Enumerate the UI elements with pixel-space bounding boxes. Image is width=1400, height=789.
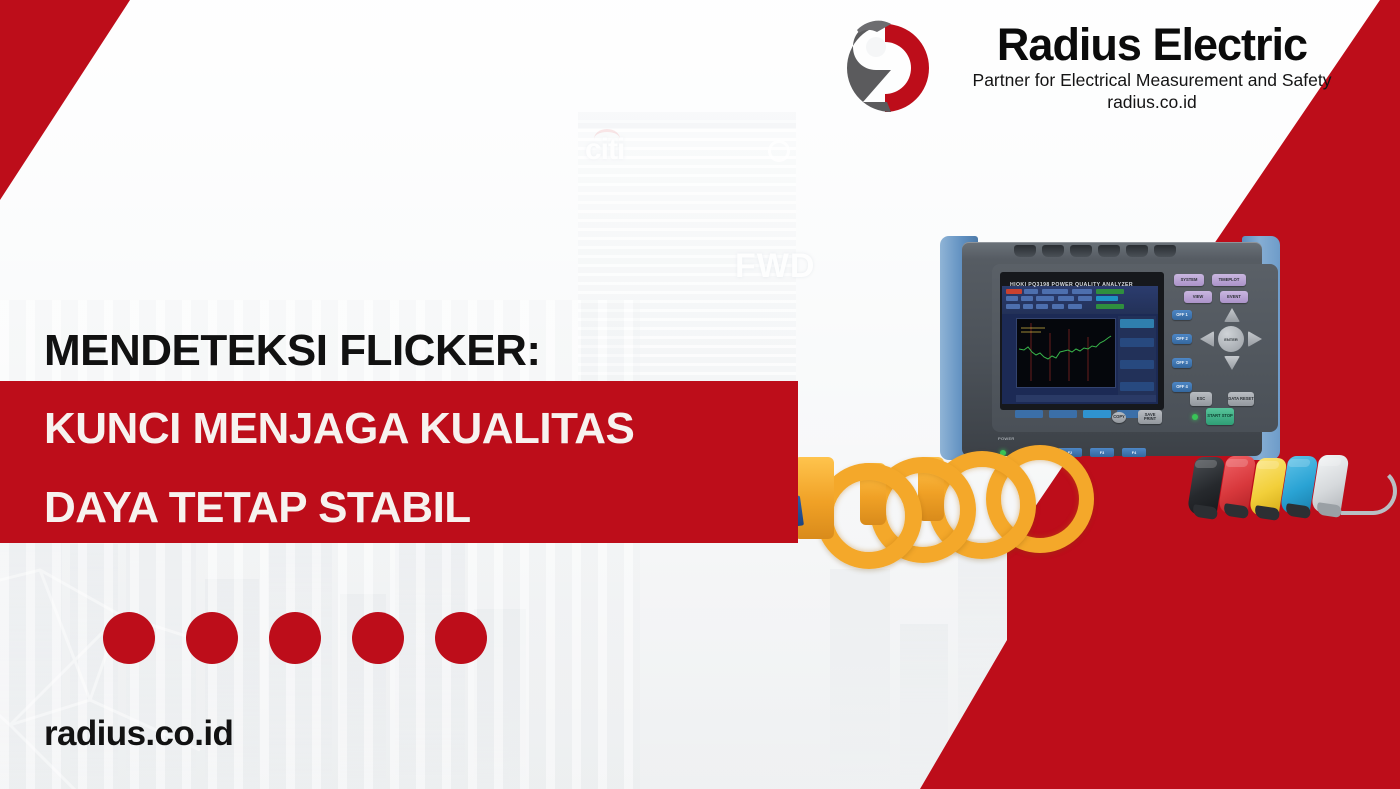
clip-lead-wire xyxy=(1341,467,1397,515)
timeplot-button[interactable]: TIMEPLOT xyxy=(1212,274,1246,286)
decorative-dot-3 xyxy=(269,612,321,664)
off3-button[interactable]: OFF 3 xyxy=(1172,358,1192,368)
decorative-dot-row xyxy=(103,612,487,664)
analyzer-lcd: HIOKI PQ3198 POWER QUALITY ANALYZER xyxy=(1000,272,1164,410)
test-clip-blue xyxy=(1284,456,1314,514)
view-button[interactable]: VIEW xyxy=(1184,291,1212,303)
brand-tagline: Partner for Electrical Measurement and S… xyxy=(951,70,1353,92)
red-triangle-top-left xyxy=(0,0,130,200)
footer-website-url[interactable]: radius.co.id xyxy=(44,714,233,754)
copy-button[interactable]: COPY xyxy=(1112,412,1126,423)
test-clip-yellow xyxy=(1253,458,1283,516)
test-clip-black xyxy=(1191,457,1221,515)
enter-button[interactable]: ENTER xyxy=(1218,326,1244,352)
clamp-sensor-group xyxy=(808,425,1108,585)
brand-logo-block[interactable]: Radius Electric Partner for Electrical M… xyxy=(833,16,1353,131)
lcd-side-menu xyxy=(1118,316,1156,400)
promo-banner: citi FWD xyxy=(0,0,1400,789)
analyzer-keypad: SYSTEM TIMEPLOT VIEW EVENT OFF 1 OFF 2 O… xyxy=(1172,274,1272,424)
test-clip-red xyxy=(1222,456,1252,514)
analyzer-front-face: HIOKI PQ3198 POWER QUALITY ANALYZER xyxy=(992,264,1278,432)
analyzer-input-ports xyxy=(1014,245,1214,257)
test-clip-white xyxy=(1315,455,1345,513)
off2-button[interactable]: OFF 2 xyxy=(1172,334,1192,344)
lcd-content xyxy=(1002,286,1158,404)
lcd-trend-plot xyxy=(1016,318,1116,388)
brand-website-url[interactable]: radius.co.id xyxy=(951,92,1353,114)
event-button[interactable]: EVENT xyxy=(1220,291,1248,303)
headline-line-3: DAYA TETAP STABIL xyxy=(44,483,471,533)
f4-button[interactable]: F4 xyxy=(1122,448,1146,457)
decorative-dot-2 xyxy=(186,612,238,664)
decorative-dot-4 xyxy=(352,612,404,664)
esc-button[interactable]: ESC xyxy=(1190,392,1212,406)
test-clip-group xyxy=(1191,453,1391,533)
lcd-soft-key-row xyxy=(1000,410,1160,419)
dpad-left-button[interactable] xyxy=(1200,331,1214,347)
off4-button[interactable]: OFF 4 xyxy=(1172,382,1192,392)
decorative-dot-5 xyxy=(435,612,487,664)
dpad-down-button[interactable] xyxy=(1224,356,1240,370)
radius-r-circle-logo-icon xyxy=(833,16,941,120)
status-led xyxy=(1192,414,1198,420)
brand-name: Radius Electric xyxy=(951,22,1353,68)
start-stop-button[interactable]: START STOP xyxy=(1206,408,1234,425)
headline-line-1: MENDETEKSI FLICKER: xyxy=(44,326,541,376)
dpad-right-button[interactable] xyxy=(1248,331,1262,347)
decorative-dot-1 xyxy=(103,612,155,664)
system-button[interactable]: SYSTEM xyxy=(1174,274,1204,286)
off1-button[interactable]: OFF 1 xyxy=(1172,310,1192,320)
brand-text-block: Radius Electric Partner for Electrical M… xyxy=(951,16,1353,114)
data-reset-button[interactable]: DATA RESET xyxy=(1228,392,1254,406)
save-print-button[interactable]: SAVE PRINT xyxy=(1138,410,1162,424)
product-image-group: HIOKI PQ3198 POWER QUALITY ANALYZER xyxy=(808,225,1388,585)
headline-line-2: KUNCI MENJAGA KUALITAS xyxy=(44,404,634,454)
device-model-label: HIOKI PQ3198 POWER QUALITY ANALYZER xyxy=(1010,282,1133,288)
dpad-up-button[interactable] xyxy=(1224,308,1240,322)
analyzer-body: HIOKI PQ3198 POWER QUALITY ANALYZER xyxy=(962,242,1262,456)
